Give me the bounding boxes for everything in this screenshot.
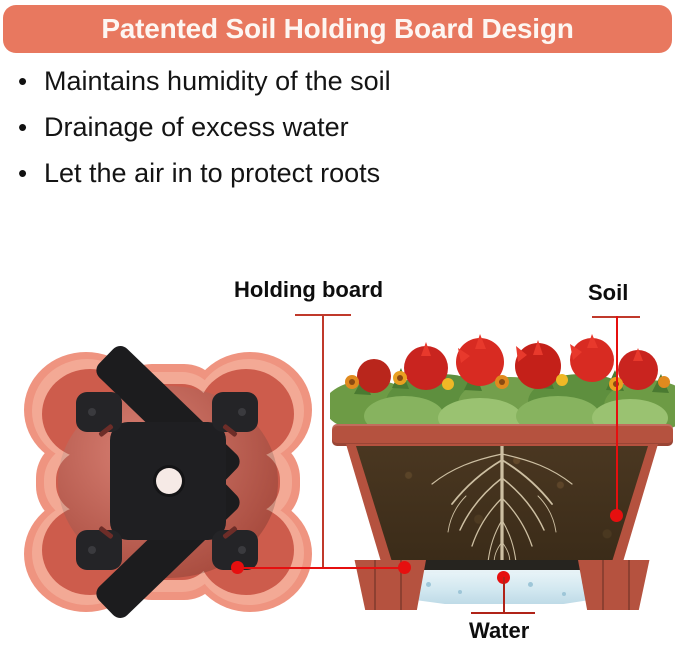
feature-text-1: Maintains humidity of the soil xyxy=(44,68,391,95)
feature-item-2: • Drainage of excess water xyxy=(18,114,658,160)
board-peg-2 xyxy=(238,408,246,416)
leader-line-water xyxy=(503,577,505,613)
pot-rim xyxy=(332,424,673,446)
pot-foot-right xyxy=(578,560,654,610)
callout-label-soil: Soil xyxy=(588,280,628,306)
feature-item-3: • Let the air in to protect roots xyxy=(18,160,658,206)
board-peg-1 xyxy=(88,408,96,416)
leader-line-soil xyxy=(616,316,618,516)
feature-text-3: Let the air in to protect roots xyxy=(44,160,380,187)
bullet-icon: • xyxy=(18,160,44,186)
flowers-illustration xyxy=(330,332,675,428)
leader-dot-soil xyxy=(610,509,623,522)
foot-groove-right-1 xyxy=(602,560,604,610)
board-pad-top-right xyxy=(212,392,258,432)
feature-list: • Maintains humidity of the soil • Drain… xyxy=(18,68,658,206)
leader-line-holding-board-horizontal xyxy=(238,567,410,569)
callout-label-holding-board: Holding board xyxy=(234,277,383,303)
leader-dot-holding-board-right xyxy=(398,561,411,574)
board-peg-3 xyxy=(88,546,96,554)
feature-text-2: Drainage of excess water xyxy=(44,114,349,141)
product-diagram: Holding board Soil Water xyxy=(0,250,679,652)
board-center-drain-hole xyxy=(156,468,182,494)
callout-label-water: Water xyxy=(469,618,529,644)
feature-item-1: • Maintains humidity of the soil xyxy=(18,68,658,114)
flower-bed xyxy=(330,332,675,428)
holding-board-top-view xyxy=(80,396,256,568)
planter-top-view xyxy=(18,346,318,618)
foot-groove-right-2 xyxy=(628,560,630,610)
leader-tick-water xyxy=(471,612,535,614)
water-bubble-4 xyxy=(562,592,566,596)
water-bubble-3 xyxy=(528,582,533,587)
soil-fill xyxy=(356,446,648,568)
leader-dot-holding-board-left xyxy=(231,561,244,574)
leader-line-holding-board-vertical xyxy=(322,314,324,568)
board-peg-4 xyxy=(238,546,246,554)
bullet-icon: • xyxy=(18,114,44,140)
page-title: Patented Soil Holding Board Design xyxy=(101,15,573,43)
header-banner: Patented Soil Holding Board Design xyxy=(3,5,672,53)
water-bubble-1 xyxy=(426,582,431,587)
bullet-icon: • xyxy=(18,68,44,94)
board-pad-bottom-left xyxy=(76,530,122,570)
water-bubble-2 xyxy=(458,590,462,594)
board-pad-top-left xyxy=(76,392,122,432)
